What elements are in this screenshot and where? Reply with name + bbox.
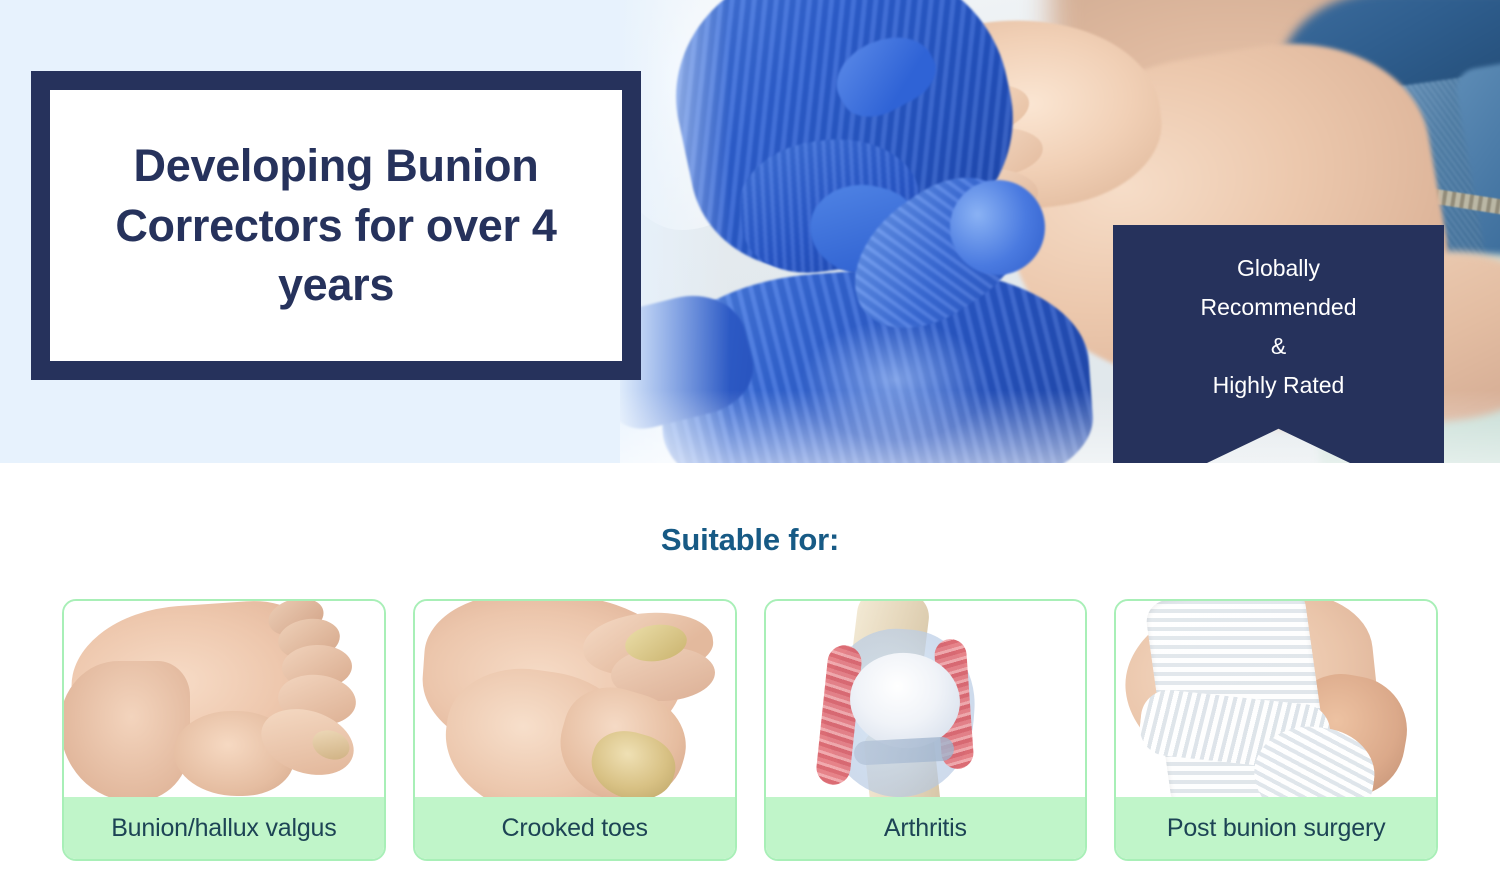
suitable-for-card-grid: Bunion/hallux valgus Crooked toes	[62, 599, 1438, 861]
suitable-for-section: Suitable for: Bunion/hallux valgus	[0, 463, 1500, 870]
badge-line-4: Highly Rated	[1113, 366, 1444, 405]
card-label-post-bunion-surgery: Post bunion surgery	[1116, 797, 1436, 859]
globally-recommended-badge: Globally Recommended & Highly Rated	[1113, 225, 1444, 463]
card-image-post-surgery	[1116, 601, 1436, 797]
hero-headline: Developing Bunion Correctors for over 4 …	[50, 90, 622, 361]
badge-line-3: &	[1113, 327, 1444, 366]
card-label-arthritis: Arthritis	[766, 797, 1086, 859]
hero-section: Developing Bunion Correctors for over 4 …	[0, 0, 1500, 463]
card-post-bunion-surgery[interactable]: Post bunion surgery	[1114, 599, 1438, 861]
card-label-bunion: Bunion/hallux valgus	[64, 797, 384, 859]
card-image-crooked-toes	[415, 601, 735, 797]
bunion-heel	[64, 661, 190, 797]
card-arthritis[interactable]: Arthritis	[764, 599, 1088, 861]
card-crooked-toes[interactable]: Crooked toes	[413, 599, 737, 861]
badge-line-2: Recommended	[1113, 288, 1444, 327]
hero-headline-box: Developing Bunion Correctors for over 4 …	[31, 71, 641, 380]
suitable-for-heading: Suitable for:	[0, 522, 1500, 558]
card-label-crooked-toes: Crooked toes	[415, 797, 735, 859]
card-image-arthritis	[766, 601, 1086, 797]
badge-text: Globally Recommended & Highly Rated	[1113, 225, 1444, 405]
card-bunion-hallux-valgus[interactable]: Bunion/hallux valgus	[62, 599, 386, 861]
card-image-bunion	[64, 601, 384, 797]
badge-line-1: Globally	[1113, 249, 1444, 288]
